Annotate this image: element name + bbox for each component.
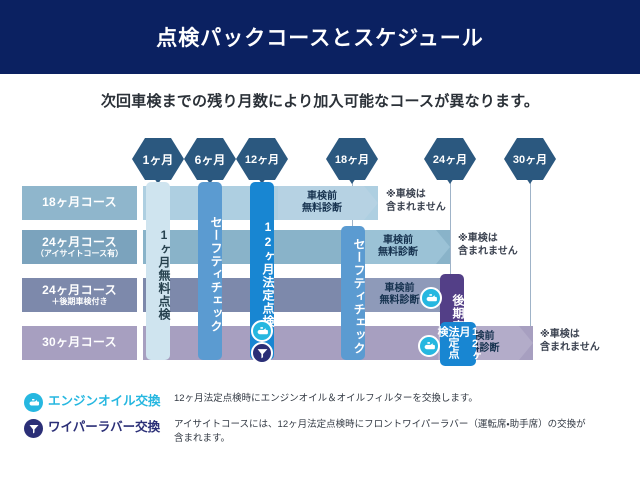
- timeline-marker-6month: 6ヶ月: [184, 138, 236, 180]
- course-label-24month-eyesight: 24ヶ月コース （アイサイトコース有）: [22, 230, 137, 264]
- note-line2: 含まれません: [386, 201, 446, 214]
- timeline-marker-30month: 30ヶ月: [504, 138, 556, 180]
- course-label-30month: 30ヶ月コース: [22, 326, 137, 360]
- oil-can-icon: [418, 335, 440, 357]
- pre-shaken-diagnosis-line1: 車検前: [307, 191, 337, 204]
- timeline-marker-label: 24ヶ月: [433, 151, 467, 167]
- legend-item-description: 12ヶ月法定点検時にエンジンオイル＆オイルフィルターを交換します。: [174, 392, 478, 406]
- pre-shaken-diagnosis-24month-eyesight: 車検前 無料診断: [358, 230, 450, 264]
- oil-can-icon: [24, 393, 43, 412]
- timeline-marker-1month: 1ヶ月: [132, 138, 184, 180]
- subtitle-text: 次回車検までの残り月数により加入可能なコースが異なります。: [0, 90, 640, 111]
- wiper-icon: [24, 419, 43, 438]
- note-line2: 含まれません: [458, 245, 518, 258]
- pre-shaken-diagnosis-18month: 車検前 無料診断: [278, 186, 378, 220]
- legend-item-name: エンジンオイル交換: [48, 392, 174, 410]
- course-label-18month: 18ヶ月コース: [22, 186, 137, 220]
- pre-shaken-diagnosis-line1: 車検前: [383, 235, 413, 248]
- shaken-not-included-note-24month-eyesight: ※車検は 含まれません: [458, 232, 518, 258]
- bottom-divider: [0, 462, 640, 463]
- oil-can-icon: [420, 287, 442, 309]
- course-label-24month-late-shaken: 24ヶ月コース ＋後期車検付き: [22, 278, 137, 312]
- guide-line-30month: [530, 158, 531, 354]
- legend: エンジンオイル交換 12ヶ月法定点検時にエンジンオイル＆オイルフィルターを交換し…: [24, 392, 624, 453]
- pre-shaken-diagnosis-line1: 車検前: [385, 283, 415, 296]
- page-title: 点検パックコースとスケジュール: [156, 22, 483, 52]
- timeline-marker-tip-18month: [348, 178, 356, 184]
- course-label-name: 24ヶ月コース: [42, 284, 117, 297]
- timeline-marker-18month: 18ヶ月: [326, 138, 378, 180]
- legend-item-name: ワイパーラバー交換: [48, 418, 174, 436]
- event-block-safety-check: セーフティチェック: [198, 182, 222, 360]
- header-banner: 点検パックコースとスケジュール: [0, 0, 640, 74]
- legend-item-wiper-rubber: ワイパーラバー交換 アイサイトコースには、12ヶ月法定点検時にフロントワイパーラ…: [24, 418, 624, 447]
- note-line1: ※車検は: [458, 232, 518, 245]
- timeline-marker-label: 30ヶ月: [513, 151, 547, 167]
- timeline-marker-label: 18ヶ月: [335, 151, 369, 167]
- event-block-first-inspection: 1ヶ月無料点検: [146, 182, 170, 360]
- course-label-name: 24ヶ月コース: [42, 236, 117, 249]
- timeline-marker-12month: 12ヶ月: [236, 138, 288, 180]
- course-label-name: 30ヶ月コース: [42, 336, 117, 349]
- shaken-not-included-note-30month: ※車検は 含まれません: [540, 328, 600, 354]
- pre-shaken-diagnosis-line2: 無料診断: [380, 295, 420, 308]
- course-label-name: 18ヶ月コース: [42, 196, 117, 209]
- wiper-icon: [251, 342, 273, 364]
- oil-can-icon: [251, 320, 273, 342]
- timeline-marker-label: 1ヶ月: [143, 151, 174, 168]
- timeline-marker-24month: 24ヶ月: [424, 138, 476, 180]
- pre-shaken-diagnosis-line2: 無料診断: [302, 203, 342, 216]
- timeline-marker-tip-24month: [446, 178, 454, 184]
- schedule-chart: 1ヶ月 6ヶ月 12ヶ月 18ヶ月 24ヶ月 30ヶ月 18ヶ月コース 車検前: [0, 132, 640, 382]
- timeline-marker-label: 12ヶ月: [245, 151, 279, 167]
- legend-item-engine-oil: エンジンオイル交換 12ヶ月法定点検時にエンジンオイル＆オイルフィルターを交換し…: [24, 392, 624, 412]
- legend-item-description: アイサイトコースには、12ヶ月法定点検時にフロントワイパーラバー（運転席・助手席…: [174, 418, 594, 447]
- timeline-marker-label: 6ヶ月: [195, 151, 226, 168]
- event-block-legal-12month-30month: 12ヶ月 法定点検: [440, 322, 476, 366]
- event-block-safety-check-18month: セーフティチェック: [341, 226, 365, 360]
- note-line1: ※車検は: [540, 328, 600, 341]
- note-line2: 含まれません: [540, 341, 600, 354]
- inspection-package-schedule-infographic: 点検パックコースとスケジュール 次回車検までの残り月数により加入可能なコースが異…: [0, 0, 640, 480]
- course-label-sub: （アイサイトコース有）: [36, 250, 123, 259]
- legal-12month-col-a: 12ヶ月: [458, 326, 480, 366]
- timeline-marker-tip-30month: [526, 178, 534, 184]
- pre-shaken-diagnosis-line2: 無料診断: [378, 247, 418, 260]
- course-label-sub: ＋後期車検付き: [52, 298, 108, 307]
- shaken-not-included-note-18month: ※車検は 含まれません: [386, 188, 446, 214]
- note-line1: ※車検は: [386, 188, 446, 201]
